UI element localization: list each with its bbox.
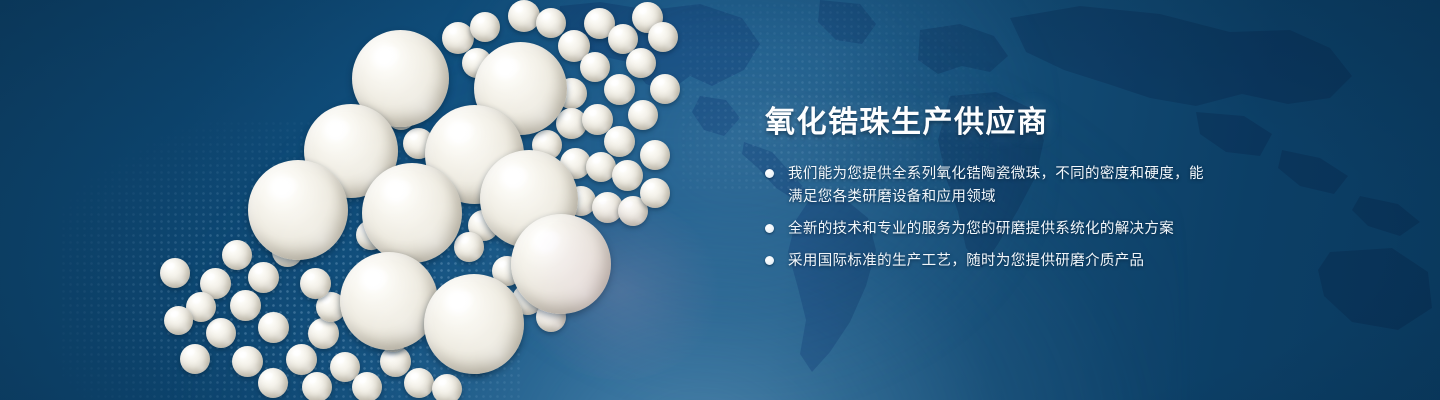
banner-bullet-list: 我们能为您提供全系列氧化锆陶瓷微珠，不同的密度和硬度，能满足您各类研磨设备和应用… bbox=[765, 163, 1385, 273]
zirconia-bead bbox=[626, 48, 656, 78]
zirconia-bead bbox=[352, 372, 382, 400]
bullet-dot-icon bbox=[765, 169, 774, 178]
zirconia-bead bbox=[258, 312, 289, 343]
zirconia-bead bbox=[160, 258, 190, 288]
banner-text-block: 氧化锆珠生产供应商 我们能为您提供全系列氧化锆陶瓷微珠，不同的密度和硬度，能满足… bbox=[765, 105, 1385, 273]
zirconia-bead bbox=[308, 318, 339, 349]
zirconia-bead bbox=[206, 318, 236, 348]
zirconia-bead bbox=[650, 74, 680, 104]
bullet-text: 我们能为您提供全系列氧化锆陶瓷微珠，不同的密度和硬度，能满足您各类研磨设备和应用… bbox=[788, 163, 1208, 209]
zirconia-bead bbox=[362, 163, 462, 263]
bullet-text: 采用国际标准的生产工艺，随时为您提供研磨介质产品 bbox=[788, 250, 1144, 273]
list-item: 全新的技术和专业的服务为您的研磨提供系统化的解决方案 bbox=[765, 218, 1385, 241]
zirconia-bead bbox=[258, 368, 288, 398]
zirconia-bead bbox=[508, 0, 540, 32]
zirconia-bead bbox=[404, 368, 434, 398]
bullet-dot-icon bbox=[765, 224, 774, 233]
zirconia-bead bbox=[300, 268, 331, 299]
zirconia-bead bbox=[432, 374, 462, 400]
zirconia-bead bbox=[536, 8, 566, 38]
zirconia-bead bbox=[454, 232, 484, 262]
zirconia-bead bbox=[248, 160, 348, 260]
zirconia-bead bbox=[640, 178, 670, 208]
zirconia-bead bbox=[580, 52, 610, 82]
promo-banner: 氧化锆珠生产供应商 我们能为您提供全系列氧化锆陶瓷微珠，不同的密度和硬度，能满足… bbox=[0, 0, 1440, 400]
zirconia-bead bbox=[164, 306, 193, 335]
zirconia-bead bbox=[286, 344, 317, 375]
zirconia-bead bbox=[604, 126, 635, 157]
zirconia-bead bbox=[648, 22, 678, 52]
bullet-text: 全新的技术和专业的服务为您的研磨提供系统化的解决方案 bbox=[788, 218, 1174, 241]
zirconia-bead bbox=[612, 160, 643, 191]
zirconia-bead bbox=[640, 140, 670, 170]
zirconia-bead bbox=[628, 100, 658, 130]
list-item: 我们能为您提供全系列氧化锆陶瓷微珠，不同的密度和硬度，能满足您各类研磨设备和应用… bbox=[765, 163, 1385, 209]
zirconia-bead bbox=[230, 290, 261, 321]
zirconia-bead bbox=[248, 262, 279, 293]
bullet-dot-icon bbox=[765, 256, 774, 265]
zirconia-bead bbox=[340, 252, 438, 350]
banner-headline: 氧化锆珠生产供应商 bbox=[765, 105, 1385, 141]
zirconia-bead bbox=[604, 74, 635, 105]
zirconia-bead bbox=[470, 12, 500, 42]
zirconia-bead bbox=[232, 346, 263, 377]
zirconia-bead bbox=[302, 372, 332, 400]
zirconia-bead bbox=[424, 274, 524, 374]
zirconia-bead bbox=[180, 344, 210, 374]
zirconia-bead bbox=[222, 240, 252, 270]
zirconia-bead bbox=[511, 214, 611, 314]
list-item: 采用国际标准的生产工艺，随时为您提供研磨介质产品 bbox=[765, 250, 1385, 273]
